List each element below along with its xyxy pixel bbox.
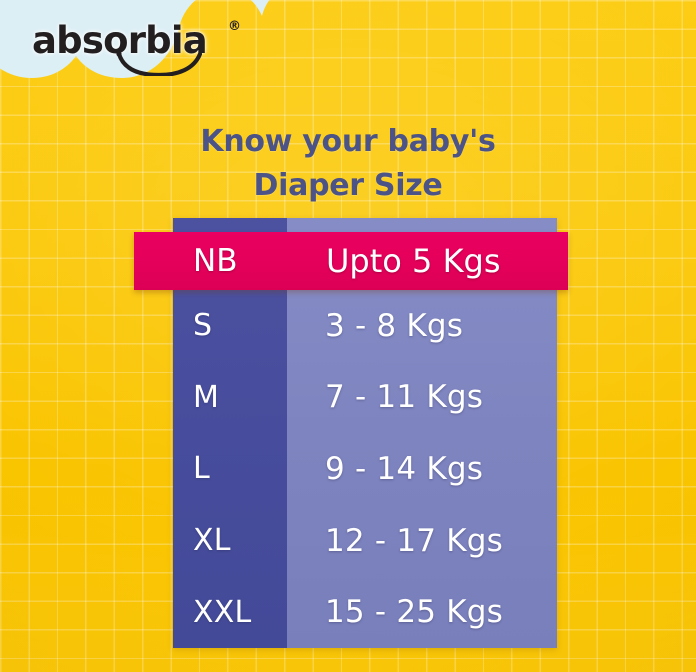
highlighted-row-nb: NB Upto 5 Kgs	[134, 232, 568, 290]
page-title-line-1: Know your baby's	[0, 120, 696, 164]
highlighted-row-size: NB	[134, 243, 235, 279]
table-row-weight-m: 7 - 11 Kgs	[287, 361, 557, 433]
registered-trademark-icon: ®	[228, 20, 241, 33]
smile-curve-icon	[116, 52, 202, 76]
table-row-weight-xl: 12 - 17 Kgs	[287, 505, 557, 577]
table-row-size-l: L	[173, 433, 287, 505]
diaper-size-poster: absorbia ® Know your baby's Diaper Size …	[0, 0, 696, 672]
highlighted-row-weight: Upto 5 Kgs	[235, 242, 501, 280]
brand-logo: absorbia ®	[32, 18, 262, 76]
page-title: Know your baby's Diaper Size	[0, 120, 696, 207]
table-row-weight-s: 3 - 8 Kgs	[287, 290, 557, 362]
table-row-size-s: S	[173, 290, 287, 362]
table-row-weight-xxl: 15 - 25 Kgs	[287, 576, 557, 648]
table-row-size-xxl: XXL	[173, 576, 287, 648]
page-title-line-2: Diaper Size	[0, 164, 696, 208]
table-row-weight-l: 9 - 14 Kgs	[287, 433, 557, 505]
table-row-size-xl: XL	[173, 505, 287, 577]
table-row-size-m: M	[173, 361, 287, 433]
